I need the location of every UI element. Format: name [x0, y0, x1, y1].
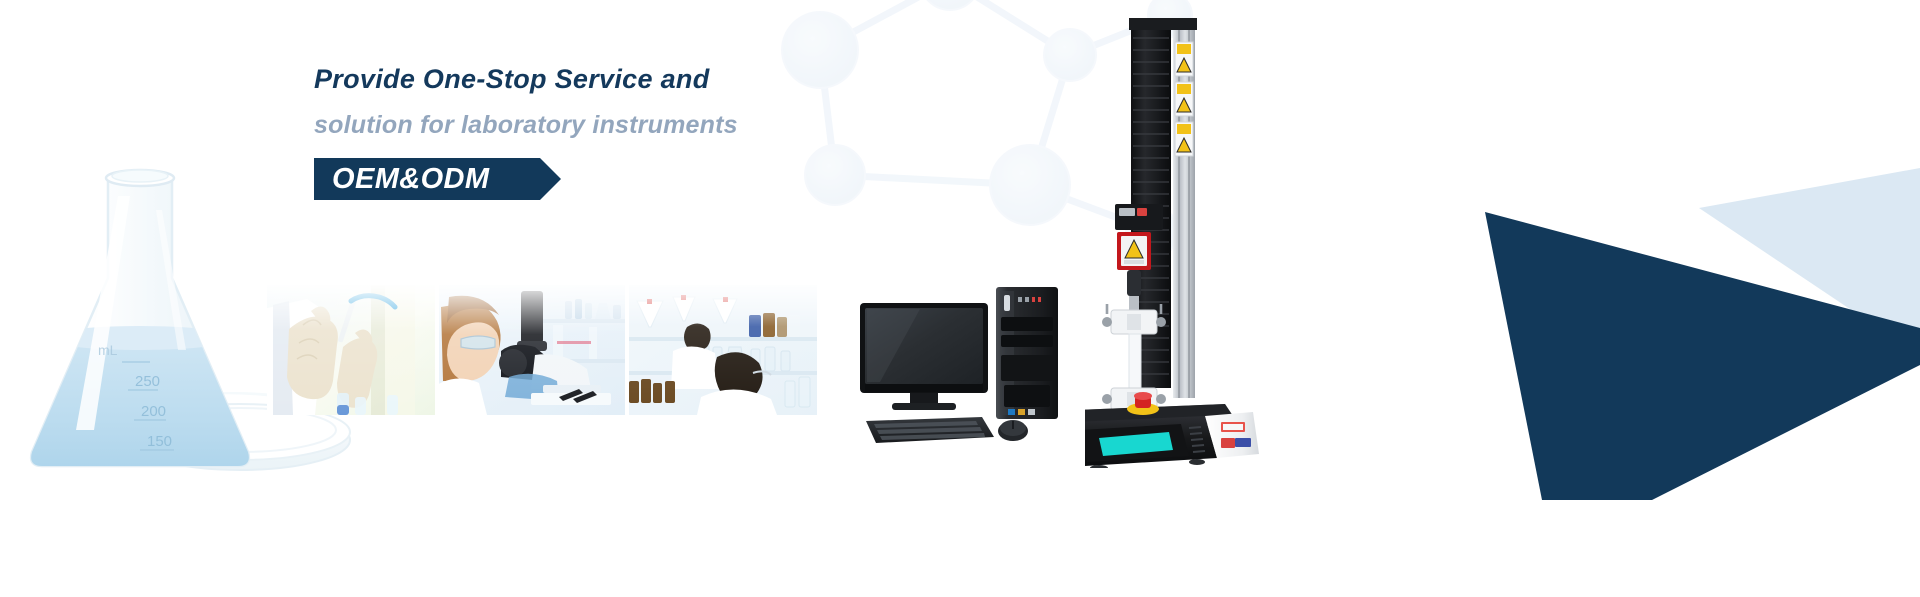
desktop-tower: [996, 287, 1058, 419]
graduation-150: 150: [147, 433, 172, 450]
laboratory-bench-photo: [629, 285, 817, 415]
pipetting-photo: [267, 285, 435, 415]
monitor: [860, 303, 988, 410]
erlenmeyer-flask: 250 200 150 mL: [10, 170, 280, 486]
keyboard: [866, 417, 994, 443]
headline-line-2: solution for laboratory instruments: [314, 102, 1014, 148]
microscope-photo: [439, 285, 625, 415]
light-blue-arrow: [1699, 168, 1920, 356]
badge-label: OEM&ODM: [332, 162, 489, 196]
graduation-unit: mL: [98, 342, 118, 358]
computer-workstation: [858, 285, 1088, 455]
hazard-labels: [1175, 42, 1193, 156]
banner-root: 250 200 150 mL Provide One-Stop Service …: [0, 0, 1920, 597]
graduation-250: 250: [135, 373, 160, 390]
graduation-200: 200: [141, 403, 166, 420]
headline-block: Provide One-Stop Service and solution fo…: [314, 56, 1014, 200]
photo-strip: [267, 285, 817, 415]
dark-navy-arrow: [1485, 212, 1920, 500]
oem-odm-badge: OEM&ODM: [314, 158, 564, 200]
universal-tensile-testing-machine: [1085, 18, 1295, 468]
headline-line-1: Provide One-Stop Service and: [314, 56, 1014, 102]
mouse: [998, 420, 1028, 441]
